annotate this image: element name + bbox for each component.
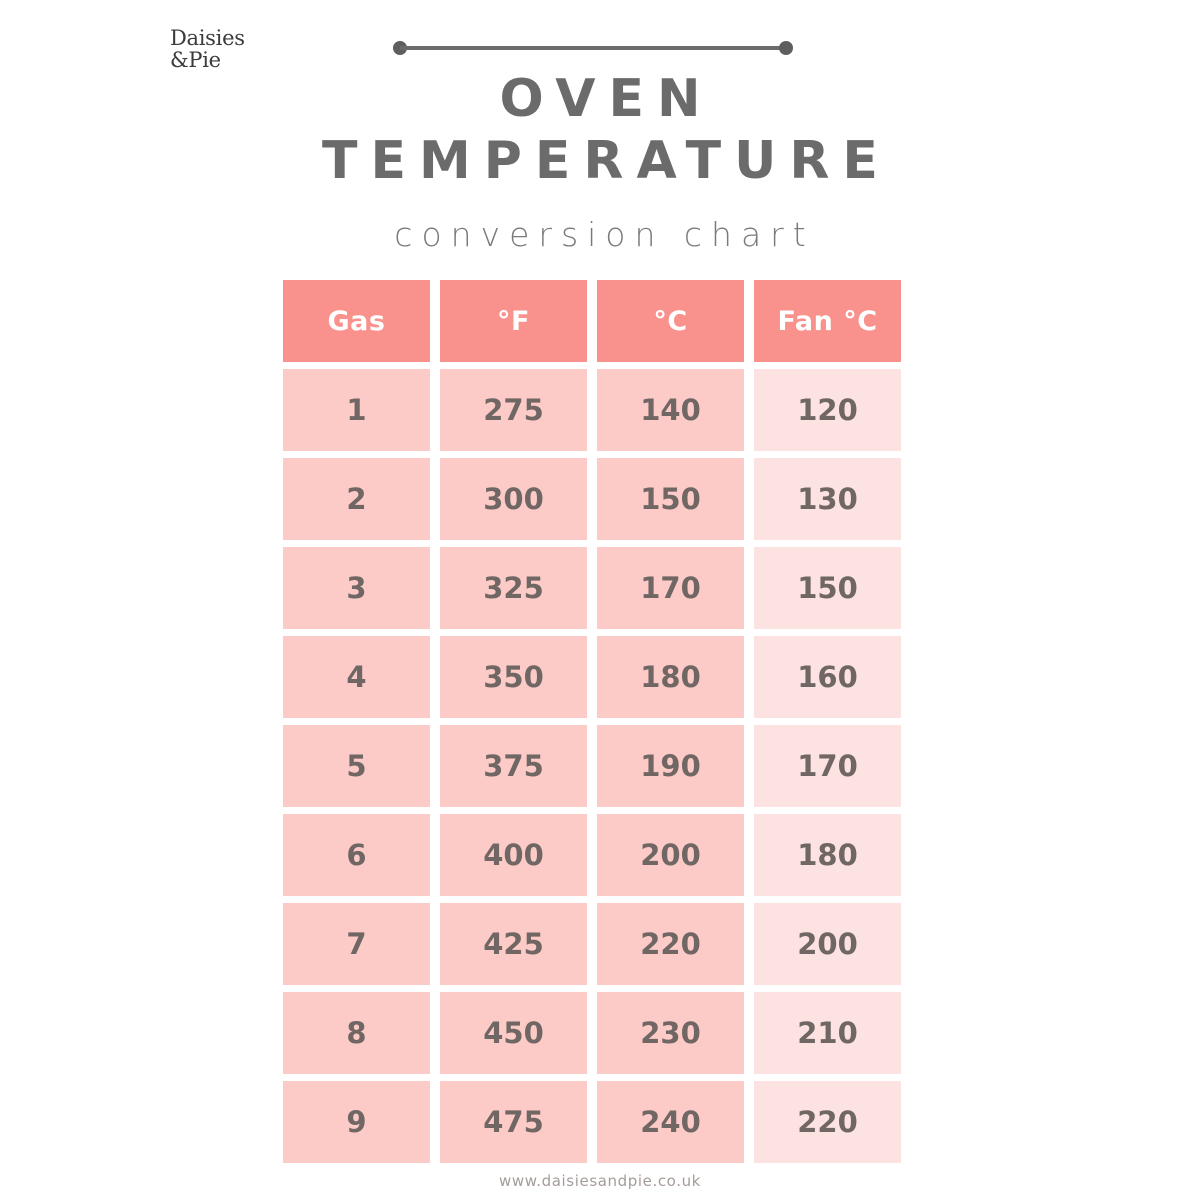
table-row: 4 350 180 160: [283, 636, 903, 718]
table-row: 1 275 140 120: [283, 369, 903, 451]
cell-fan-celsius: 160: [754, 636, 901, 718]
cell-gas: 8: [283, 992, 430, 1074]
cell-fan-celsius: 170: [754, 725, 901, 807]
column-header-celsius: °C: [597, 280, 744, 362]
footer-website-url: www.daisiesandpie.co.uk: [0, 1172, 1200, 1190]
cell-gas: 1: [283, 369, 430, 451]
cell-fahrenheit: 400: [440, 814, 587, 896]
cell-fahrenheit: 350: [440, 636, 587, 718]
cell-celsius: 180: [597, 636, 744, 718]
cell-gas: 3: [283, 547, 430, 629]
cell-celsius: 200: [597, 814, 744, 896]
cell-fan-celsius: 180: [754, 814, 901, 896]
brand-logo: Daisies &Pie: [170, 28, 370, 71]
cell-fahrenheit: 300: [440, 458, 587, 540]
cell-celsius: 190: [597, 725, 744, 807]
cell-gas: 5: [283, 725, 430, 807]
cell-gas: 7: [283, 903, 430, 985]
cell-celsius: 230: [597, 992, 744, 1074]
cell-fan-celsius: 220: [754, 1081, 901, 1163]
page-title-line1: OVEN: [0, 68, 1200, 130]
brand-logo-line1: Daisies: [170, 28, 370, 49]
cell-celsius: 240: [597, 1081, 744, 1163]
page-title: OVEN TEMPERATURE: [0, 68, 1200, 192]
cell-fahrenheit: 325: [440, 547, 587, 629]
cell-fan-celsius: 120: [754, 369, 901, 451]
conversion-table: Gas °F °C Fan °C 1 275 140 120 2 300 150…: [283, 280, 903, 1170]
cell-fan-celsius: 200: [754, 903, 901, 985]
cell-gas: 9: [283, 1081, 430, 1163]
table-row: 3 325 170 150: [283, 547, 903, 629]
cell-celsius: 170: [597, 547, 744, 629]
cell-fahrenheit: 425: [440, 903, 587, 985]
cell-fahrenheit: 275: [440, 369, 587, 451]
table-row: 6 400 200 180: [283, 814, 903, 896]
column-header-fan-celsius: Fan °C: [754, 280, 901, 362]
cell-fan-celsius: 130: [754, 458, 901, 540]
cell-celsius: 150: [597, 458, 744, 540]
divider-line: [400, 46, 786, 50]
cell-fan-celsius: 210: [754, 992, 901, 1074]
oven-temperature-chart-page: Daisies &Pie OVEN TEMPERATURE conversion…: [0, 0, 1200, 1200]
cell-fahrenheit: 375: [440, 725, 587, 807]
divider-dot-right-icon: [779, 41, 793, 55]
cell-celsius: 220: [597, 903, 744, 985]
table-row: 5 375 190 170: [283, 725, 903, 807]
column-header-fahrenheit: °F: [440, 280, 587, 362]
column-header-gas: Gas: [283, 280, 430, 362]
table-row: 2 300 150 130: [283, 458, 903, 540]
cell-celsius: 140: [597, 369, 744, 451]
cell-gas: 4: [283, 636, 430, 718]
cell-gas: 6: [283, 814, 430, 896]
cell-fahrenheit: 450: [440, 992, 587, 1074]
cell-fahrenheit: 475: [440, 1081, 587, 1163]
cell-fan-celsius: 150: [754, 547, 901, 629]
page-subtitle: conversion chart: [0, 215, 1200, 254]
table-header-row: Gas °F °C Fan °C: [283, 280, 903, 362]
table-row: 7 425 220 200: [283, 903, 903, 985]
table-row: 9 475 240 220: [283, 1081, 903, 1163]
cell-gas: 2: [283, 458, 430, 540]
table-row: 8 450 230 210: [283, 992, 903, 1074]
page-title-line2: TEMPERATURE: [0, 130, 1200, 192]
decorative-divider: [393, 40, 793, 56]
